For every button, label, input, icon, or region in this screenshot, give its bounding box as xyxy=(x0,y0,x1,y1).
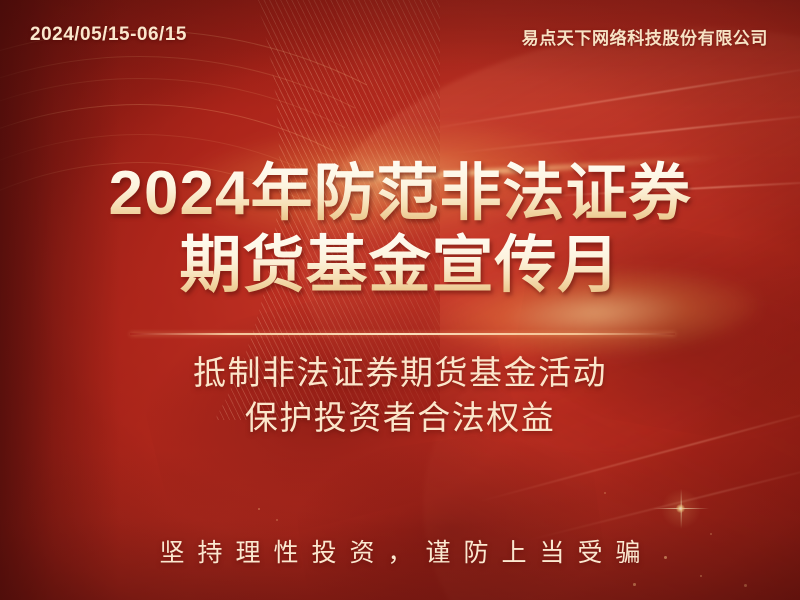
headline-line-2: 期货基金宣传月 xyxy=(0,230,800,302)
subtitle-line-2: 保护投资者合法权益 xyxy=(0,395,800,440)
promotional-banner: 2024/05/15-06/15 易点天下网络科技股份有限公司 2024年防范非… xyxy=(0,0,800,600)
subtitle-line-1: 抵制非法证券期货基金活动 xyxy=(0,350,800,395)
gold-divider-line xyxy=(130,333,675,335)
bottom-slogan: 坚持理性投资，谨防上当受骗 xyxy=(0,533,800,569)
subtitle-block: 抵制非法证券期货基金活动 保护投资者合法权益 xyxy=(0,350,800,440)
date-range-label: 2024/05/15-06/15 xyxy=(30,24,187,46)
company-name-label: 易点天下网络科技股份有限公司 xyxy=(522,24,768,49)
headline-line-1: 2024年防范非法证券 xyxy=(0,158,800,230)
headline-block: 2024年防范非法证券 期货基金宣传月 xyxy=(0,158,800,302)
banner-content: 2024/05/15-06/15 易点天下网络科技股份有限公司 2024年防范非… xyxy=(0,0,800,600)
